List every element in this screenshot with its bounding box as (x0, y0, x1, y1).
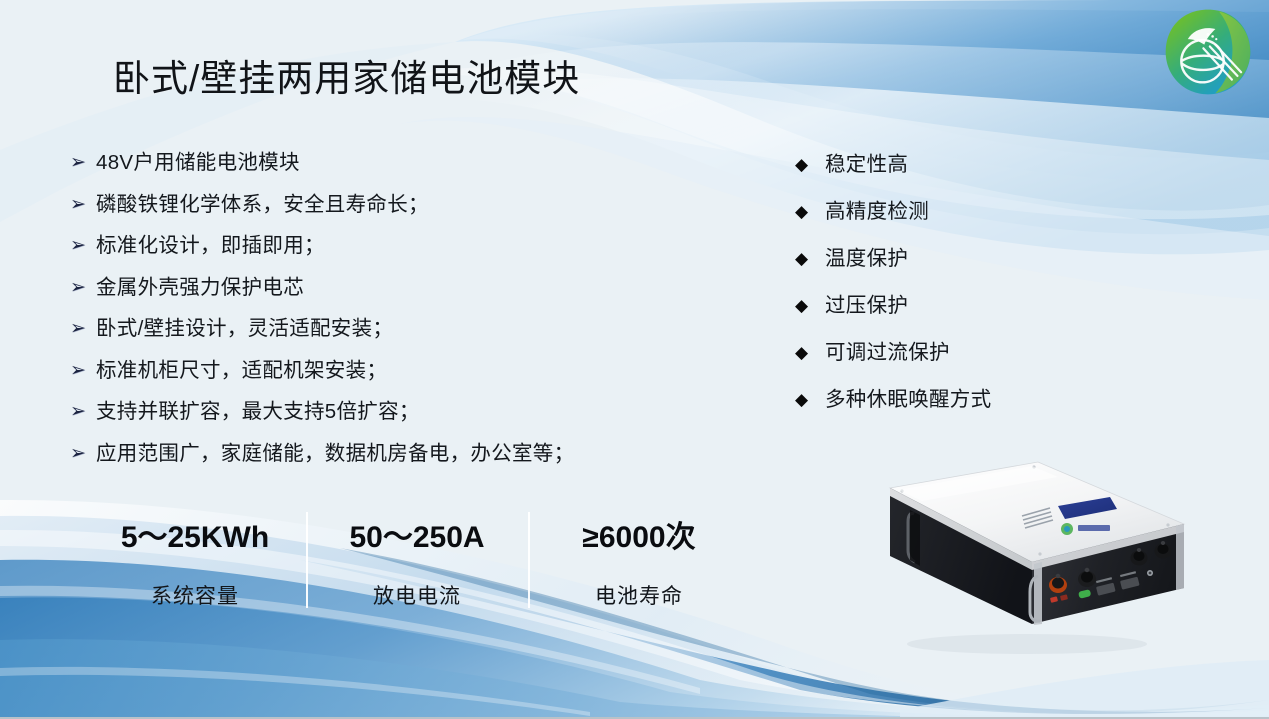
feature-list-left: ➢ 48V户用储能电池模块 ➢ 磷酸铁锂化学体系，安全且寿命长； ➢ 标准化设计… (70, 150, 720, 482)
list-item-label: 稳定性高 (825, 152, 908, 178)
arrow-bullet-icon: ➢ (70, 358, 96, 384)
stat-discharge-current: 50～250A 放电电流 (306, 518, 528, 623)
list-item-label: 过压保护 (825, 293, 908, 319)
page-title: 卧式/壁挂两用家储电池模块 (113, 56, 580, 102)
slide-canvas: 卧式/壁挂两用家储电池模块 ➢ 48V户用储能电池模块 ➢ 磷酸铁锂化学体系，安… (0, 0, 1269, 719)
list-item-label: 标准化设计，即插即用； (96, 233, 325, 259)
list-item: ➢ 卧式/壁挂设计，灵活适配安装； (70, 316, 720, 342)
leaf-circle-icon (1162, 6, 1254, 98)
list-item-label: 磷酸铁锂化学体系，安全且寿命长； (96, 192, 429, 218)
list-item-label: 支持并联扩容，最大支持5倍扩容； (96, 399, 420, 425)
list-item-label: 高精度检测 (825, 199, 929, 225)
diamond-bullet-icon: ◆ (795, 199, 825, 225)
stat-system-capacity: 5～25KWh 系统容量 (84, 518, 306, 623)
stat-label: 电池寿命 (595, 580, 683, 610)
arrow-bullet-icon: ➢ (70, 192, 96, 218)
arrow-bullet-icon: ➢ (70, 150, 96, 176)
list-item: ◆ 可调过流保护 (795, 340, 1085, 366)
stat-label: 系统容量 (151, 580, 239, 610)
stat-label: 放电电流 (373, 580, 461, 610)
diamond-bullet-icon: ◆ (795, 340, 825, 366)
list-item-label: 卧式/壁挂设计，灵活适配安装； (96, 316, 393, 342)
list-item: ➢ 支持并联扩容，最大支持5倍扩容； (70, 399, 720, 425)
list-item-label: 48V户用储能电池模块 (96, 150, 300, 176)
list-item: ➢ 标准机柜尺寸，适配机架安装； (70, 358, 720, 384)
company-logo (1162, 6, 1254, 98)
list-item-label: 金属外壳强力保护电芯 (96, 275, 304, 301)
arrow-bullet-icon: ➢ (70, 316, 96, 342)
stats-row: 5～25KWh 系统容量 50～250A 放电电流 ≥6000次 电池寿命 (84, 518, 750, 623)
stat-value: ≥6000次 (582, 518, 695, 558)
diamond-bullet-icon: ◆ (795, 152, 825, 178)
diamond-bullet-icon: ◆ (795, 293, 825, 319)
stat-value: 5～25KWh (121, 518, 269, 558)
list-item: ◆ 温度保护 (795, 246, 1085, 272)
stat-value: 50～250A (349, 518, 484, 558)
list-item: ➢ 应用范围广，家庭储能，数据机房备电，办公室等； (70, 441, 720, 467)
battery-module-illustration (862, 446, 1192, 661)
feature-list-right: ◆ 稳定性高 ◆ 高精度检测 ◆ 温度保护 ◆ 过压保护 ◆ 可调过流保护 ◆ … (795, 152, 1085, 434)
list-item: ◆ 高精度检测 (795, 199, 1085, 225)
list-item: ➢ 48V户用储能电池模块 (70, 150, 720, 176)
diamond-bullet-icon: ◆ (795, 246, 825, 272)
arrow-bullet-icon: ➢ (70, 233, 96, 259)
arrow-bullet-icon: ➢ (70, 441, 96, 467)
list-item: ◆ 稳定性高 (795, 152, 1085, 178)
diamond-bullet-icon: ◆ (795, 387, 825, 413)
list-item-label: 多种休眠唤醒方式 (825, 387, 991, 413)
list-item-label: 标准机柜尺寸，适配机架安装； (96, 358, 387, 384)
arrow-bullet-icon: ➢ (70, 275, 96, 301)
arrow-bullet-icon: ➢ (70, 399, 96, 425)
stat-battery-life: ≥6000次 电池寿命 (528, 518, 750, 623)
list-item-label: 可调过流保护 (825, 340, 950, 366)
list-item: ➢ 标准化设计，即插即用； (70, 233, 720, 259)
list-item-label: 应用范围广，家庭储能，数据机房备电，办公室等； (96, 441, 574, 467)
list-item: ◆ 过压保护 (795, 293, 1085, 319)
product-image (862, 446, 1192, 661)
list-item: ➢ 金属外壳强力保护电芯 (70, 275, 720, 301)
list-item-label: 温度保护 (825, 246, 908, 272)
list-item: ➢ 磷酸铁锂化学体系，安全且寿命长； (70, 192, 720, 218)
list-item: ◆ 多种休眠唤醒方式 (795, 387, 1085, 413)
